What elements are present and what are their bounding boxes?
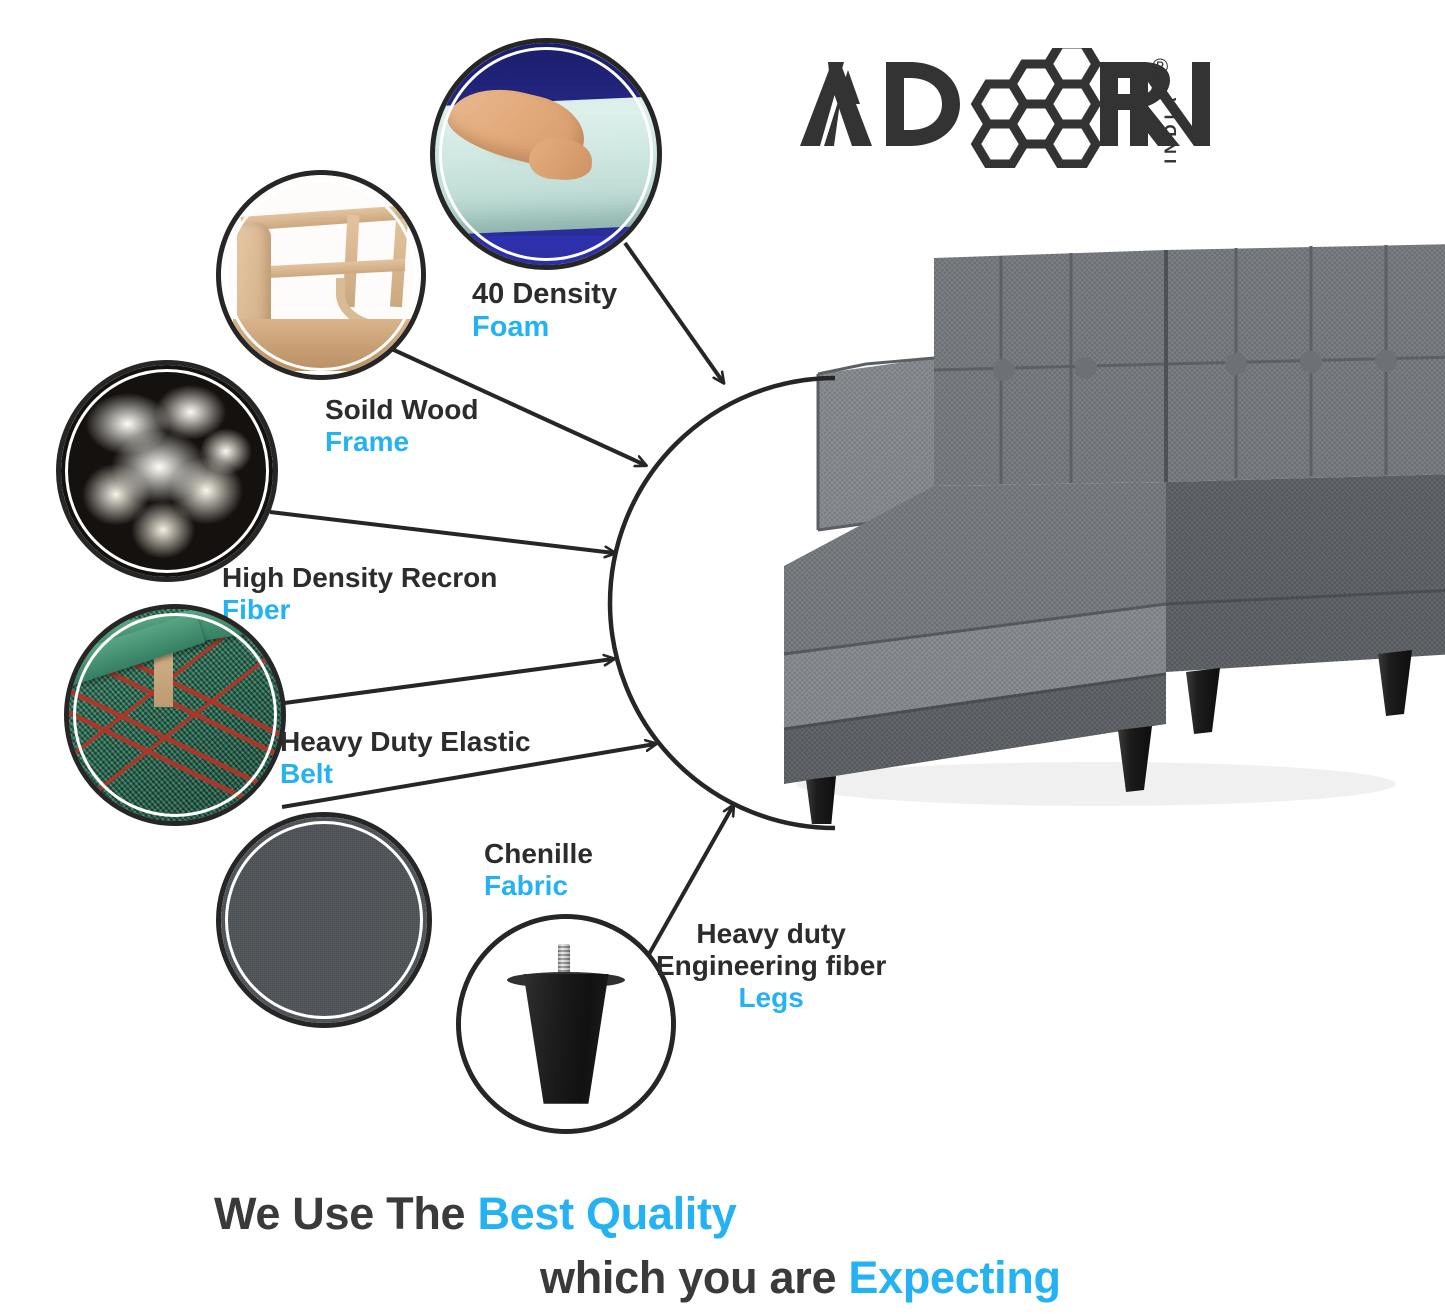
feature-label-fabric: Chenille Fabric <box>484 838 593 902</box>
feature-label-frame-line1: Soild Wood <box>325 394 478 425</box>
registered-trademark-icon: ® <box>1152 54 1168 80</box>
logo-country-block: INDIA ® <box>1138 66 1168 158</box>
sofa-leg-right <box>1378 650 1412 716</box>
feature-circle-foam <box>430 38 662 270</box>
feature-label-legs: Heavy duty Engineering fiber Legs <box>656 918 886 1014</box>
recron-fiber-photo <box>61 365 273 577</box>
arrow-fiber <box>270 512 614 553</box>
arrow-belt <box>262 659 613 706</box>
feature-label-foam-highlight: Foam <box>472 311 617 344</box>
feature-label-fabric-highlight: Fabric <box>484 870 593 902</box>
feature-circle-belt <box>64 604 286 826</box>
feature-circle-fabric <box>216 812 432 1028</box>
sofa-leg-front-left <box>806 776 836 824</box>
feature-label-foam-line1: 40 Density <box>472 278 617 310</box>
sofa-backrest-right <box>1166 244 1445 482</box>
feature-label-legs-line1: Heavy duty <box>656 918 886 950</box>
feature-label-fabric-line1: Chenille <box>484 838 593 869</box>
feature-label-belt-highlight: Belt <box>280 758 531 790</box>
foam-photo <box>435 43 657 265</box>
feature-label-fiber-line1: High Density Recron <box>222 562 497 593</box>
tagline-line-2: which you are Expecting <box>0 1252 1445 1304</box>
feature-circle-legs <box>456 914 676 1134</box>
feature-label-belt-line1: Heavy Duty Elastic <box>280 726 531 757</box>
sofa-backrest-left <box>934 250 1166 486</box>
feature-label-frame-highlight: Frame <box>325 426 478 458</box>
logo-country-text: INDIA <box>1161 85 1181 171</box>
tagline-line-1-highlight: Best Quality <box>477 1188 736 1239</box>
feature-label-legs-line2: Engineering fiber <box>656 950 886 982</box>
sofa-leg-mid <box>1186 668 1220 734</box>
tagline-line-1: We Use The Best Quality <box>0 1188 1445 1240</box>
tagline-line-1-plain: We Use The <box>214 1188 477 1239</box>
feature-label-belt: Heavy Duty Elastic Belt <box>280 726 531 790</box>
feature-circle-frame <box>216 170 426 380</box>
feature-label-frame: Soild Wood Frame <box>325 394 478 458</box>
tagline-line-2-highlight: Expecting <box>848 1252 1060 1303</box>
feature-circle-fiber <box>56 360 278 582</box>
sofa-leg-photo <box>461 919 671 1129</box>
sofa-seat-right <box>1166 474 1445 672</box>
adorn-india-logo: INDIA ® <box>790 48 1210 168</box>
feature-label-legs-highlight: Legs <box>656 982 886 1014</box>
tagline-block: We Use The Best Quality which you are Ex… <box>0 1188 1445 1304</box>
infographic-canvas: INDIA ® <box>0 0 1445 1314</box>
elastic-belt-photo <box>69 609 281 821</box>
tagline-line-2-plain: which you are <box>540 1252 848 1303</box>
honeycomb-hexagons <box>976 48 1096 164</box>
chenille-fabric-swatch <box>221 817 427 1023</box>
feature-label-foam: 40 Density Foam <box>472 278 617 344</box>
wood-frame-photo <box>221 175 421 375</box>
product-sofa-image <box>766 224 1445 824</box>
